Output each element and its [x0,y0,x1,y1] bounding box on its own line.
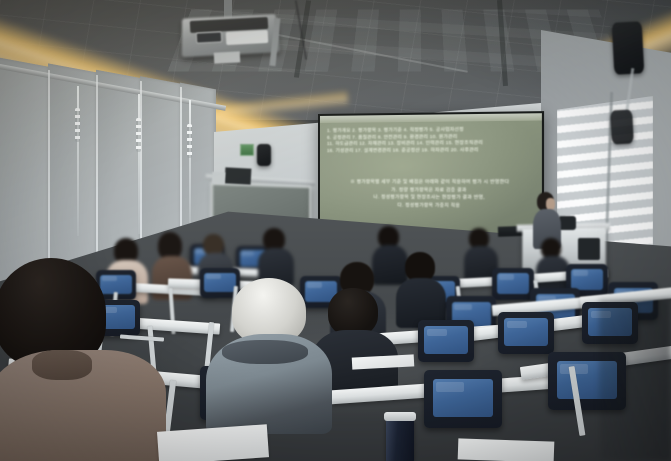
chair[interactable] [424,370,502,428]
tumbler-lid [384,412,416,421]
wall-fixture [225,167,252,184]
wall-speaker-icon [612,21,645,74]
projector-foot [214,51,241,63]
handout[interactable] [157,424,269,461]
attendee-head [328,288,378,336]
attendee-neck [32,350,92,380]
blind-chain[interactable] [138,94,140,234]
attendee-collar [222,340,308,364]
slide-numbered-list: 1. 평가개요 2. 평가항목 3. 평가기준 4. 적정평가 5. 공사업자선… [327,126,534,155]
attendee-center-rear-1 [258,228,292,282]
handout[interactable] [458,438,555,461]
slide-center-block: ※ 평가항목별 세부 기준 및 배점은 아래와 같이 적용하며 평가 시 반영한… [320,178,542,210]
screen-top-border [320,113,542,123]
slide-line: 16. 기성관리 17. 설계변경관리 18. 준공정산 19. 하자관리 20… [327,146,534,154]
projector-body [226,30,269,45]
chair[interactable] [418,320,474,362]
chair[interactable] [498,312,554,354]
blind-chain-beads[interactable] [136,118,141,152]
wall-fixture [212,172,226,185]
projector-lens-icon [196,31,223,43]
tumbler[interactable] [386,418,414,461]
lecture-room-photo: 1. 평가개요 2. 평가항목 3. 평가기준 4. 적정평가 5. 공사업자선… [0,0,671,461]
lectern-device [578,238,600,260]
wall-speaker-icon [257,144,271,166]
exit-sign-icon [240,144,254,156]
aisle-shadow [599,300,671,461]
blind-chain-beads[interactable] [187,124,192,158]
blind-chain-beads[interactable] [75,108,80,142]
attendee-white-haired [206,278,330,428]
blind-chain[interactable] [189,100,191,228]
slide-center-line: 다. 정성평가항목 가중치 적용 [320,201,542,210]
wall-speaker-icon [610,109,634,144]
attendee-center-mid-2 [396,252,444,324]
chair[interactable] [492,268,534,300]
attendee-foreground [0,258,160,461]
